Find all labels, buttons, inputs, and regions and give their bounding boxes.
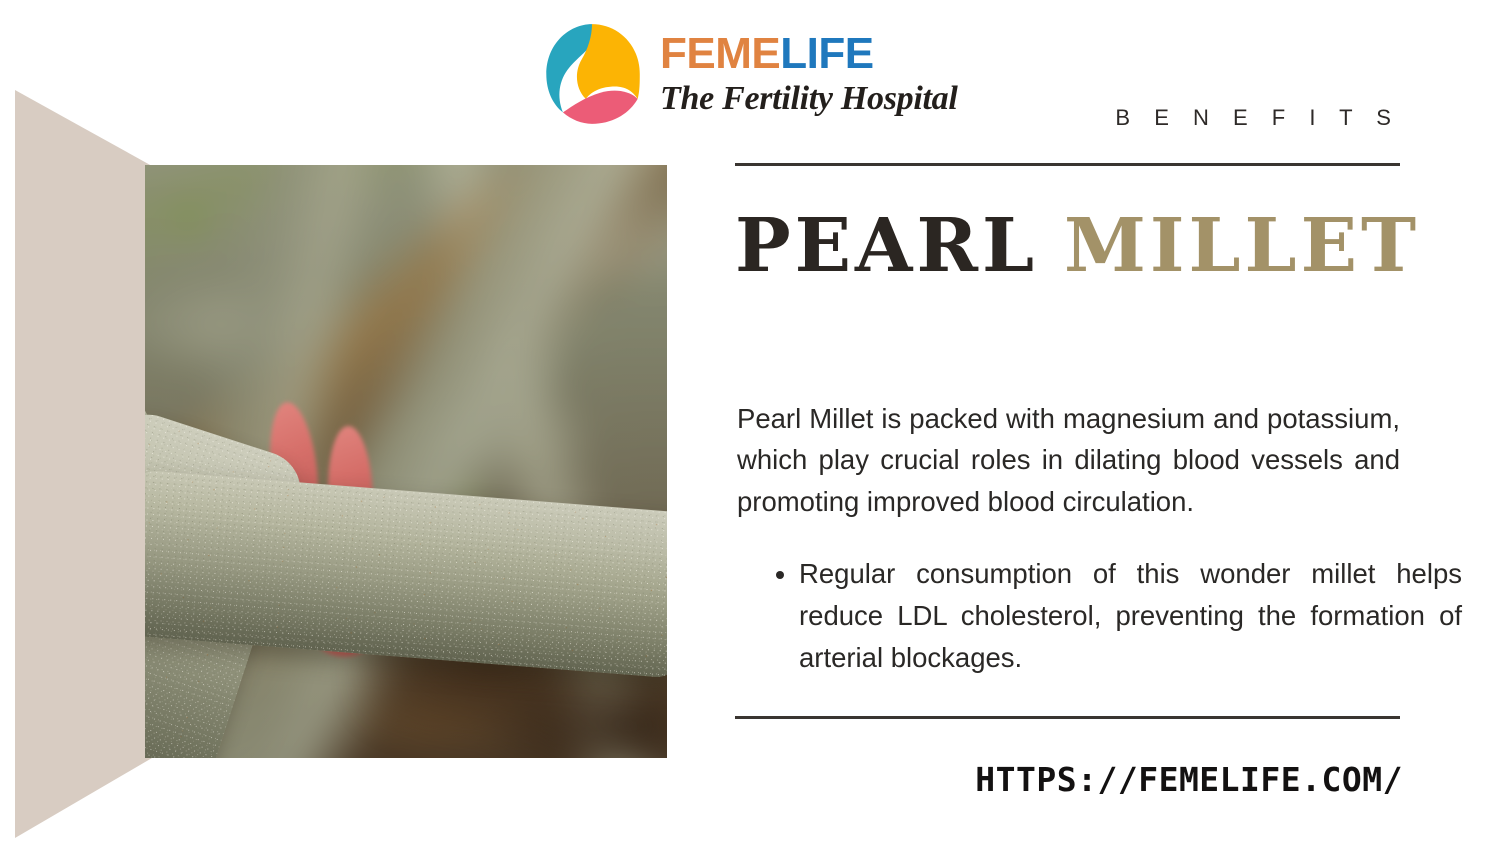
logo-word: FEMELIFE xyxy=(660,32,958,76)
section-eyebrow-benefits: B E N E F I T S xyxy=(735,105,1400,131)
title-word-pearl: PEARL xyxy=(735,203,1038,289)
logo-wordmark: FEMELIFE The Fertility Hospital xyxy=(660,32,958,117)
title-word-millet: MILLET xyxy=(1064,203,1420,289)
pearl-millet-photo xyxy=(145,165,667,758)
logo-word-life: LIFE xyxy=(780,29,873,78)
photo-inner xyxy=(145,165,667,758)
page-title: PEARLMILLET xyxy=(735,208,1400,286)
website-url: HTTPS://FEMELIFE.COM/ xyxy=(735,760,1403,799)
divider-top xyxy=(735,163,1400,166)
list-item: Regular consumption of this wonder mille… xyxy=(799,553,1462,678)
body-paragraph: Pearl Millet is packed with magnesium an… xyxy=(737,398,1400,523)
trefoil-logo-icon xyxy=(540,20,644,128)
divider-bottom xyxy=(735,716,1400,719)
poster-canvas: FEMELIFE The Fertility Hospital B E N E … xyxy=(0,0,1500,845)
benefits-bullet-list: Regular consumption of this wonder mille… xyxy=(737,553,1462,678)
logo-word-feme: FEME xyxy=(660,29,780,78)
